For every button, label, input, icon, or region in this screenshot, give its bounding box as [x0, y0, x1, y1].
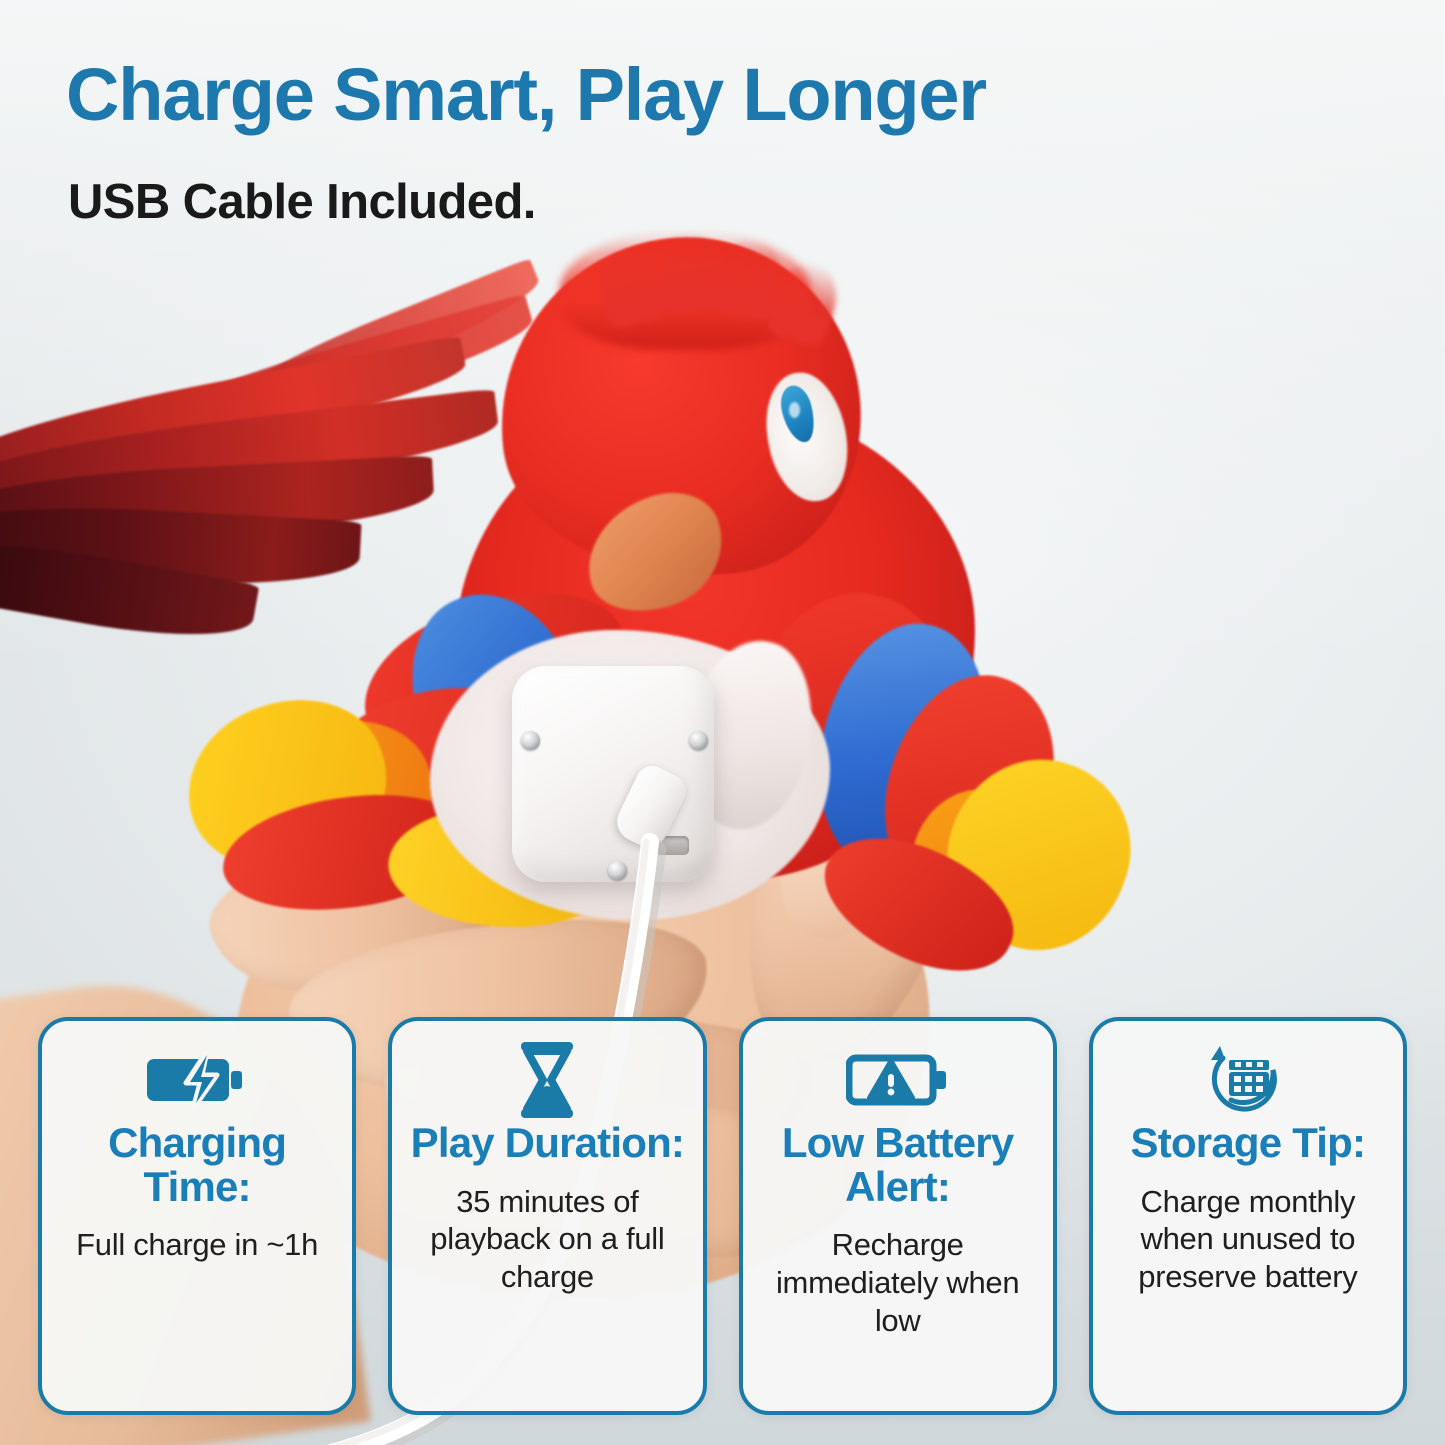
calendar-refresh-icon — [1207, 1049, 1289, 1111]
feature-card-body: Full charge in ~1h — [76, 1226, 318, 1264]
battery-warning-icon — [846, 1049, 950, 1111]
feature-card-body: 35 minutes of playback on a full charge — [402, 1183, 692, 1296]
feature-card-title: Charging Time: — [52, 1121, 342, 1208]
page-subtitle: USB Cable Included. — [68, 178, 536, 227]
feature-card-title: Low Battery Alert: — [753, 1121, 1043, 1208]
module-screw — [521, 731, 540, 750]
parrot-eye-highlight — [789, 402, 800, 418]
feature-card-title: Play Duration: — [411, 1121, 685, 1165]
feature-card-storage-tip: Storage Tip: Charge monthly when unused … — [1089, 1017, 1407, 1415]
feature-card-body: Recharge immediately when low — [753, 1226, 1043, 1339]
hourglass-icon — [515, 1049, 579, 1111]
feature-card-title: Storage Tip: — [1131, 1121, 1366, 1165]
feature-card-play-duration: Play Duration: 35 minutes of playback on… — [388, 1017, 706, 1415]
feature-card-low-battery-alert: Low Battery Alert: Recharge immediately … — [739, 1017, 1057, 1415]
feature-card-body: Charge monthly when unused to preserve b… — [1103, 1183, 1393, 1296]
product-infographic: Charge Smart, Play Longer USB Cable Incl… — [0, 0, 1445, 1445]
feature-card-charging-time: Charging Time: Full charge in ~1h — [38, 1017, 356, 1415]
battery-charging-icon — [145, 1049, 249, 1111]
feature-card-grid: Charging Time: Full charge in ~1h Play D… — [38, 1017, 1407, 1415]
module-screw — [689, 731, 708, 750]
page-title: Charge Smart, Play Longer — [66, 58, 986, 132]
